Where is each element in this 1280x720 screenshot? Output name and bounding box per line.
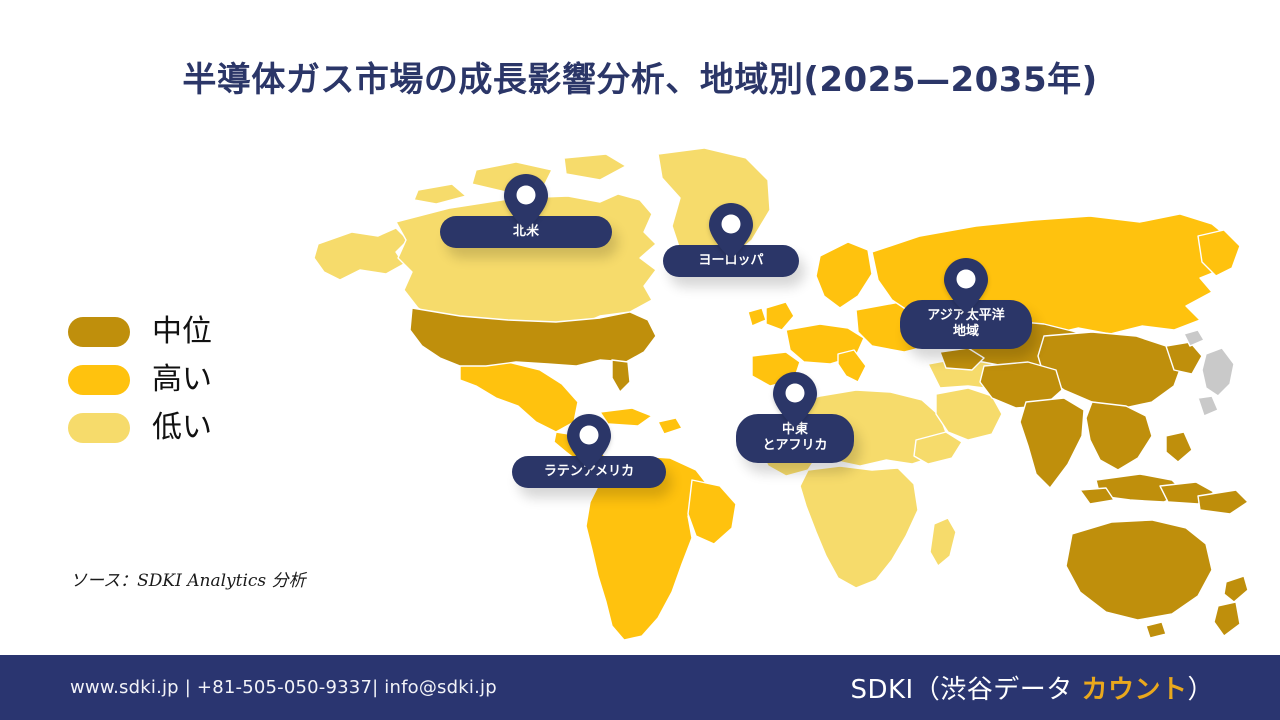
map-pin-icon	[567, 414, 611, 470]
map-marker-europe[interactable]: ヨーロッパ	[663, 203, 799, 277]
legend-item-low: 低い	[68, 404, 212, 452]
slide-root: 半導体ガス市場の成長影響分析、地域別(2025—2035年)	[0, 0, 1280, 720]
footer-brand-main: SDKI（渋谷データ	[850, 675, 1081, 705]
legend-item-high: 高い	[68, 356, 212, 404]
footer-brand-tail: ）	[1187, 675, 1214, 705]
legend-swatch-low	[68, 413, 130, 443]
legend-item-medium: 中位	[68, 308, 212, 356]
source-note: ソース：SDKI Analytics 分析	[70, 566, 306, 591]
legend-swatch-medium	[68, 317, 130, 347]
legend-label-medium: 中位	[152, 317, 212, 347]
footer-brand: SDKI（渋谷データ カウント）	[850, 669, 1214, 706]
legend: 中位 高い 低い	[68, 308, 212, 452]
legend-label-high: 高い	[152, 365, 212, 395]
map-marker-middle-east-africa[interactable]: 中東 とアフリカ	[736, 372, 854, 463]
map-marker-asia-pacific[interactable]: アジア太平洋 地域	[900, 258, 1032, 349]
footer-bar: www.sdki.jp | +81-505-050-9337| info@sdk…	[0, 655, 1280, 720]
map-pin-icon	[504, 174, 548, 230]
map-marker-latin-america[interactable]: ラテンアメリカ	[512, 414, 666, 488]
legend-label-low: 低い	[152, 413, 212, 443]
map-marker-north-america[interactable]: 北米	[440, 174, 612, 248]
page-title: 半導体ガス市場の成長影響分析、地域別(2025—2035年)	[0, 52, 1280, 101]
map-pin-icon	[773, 372, 817, 428]
footer-contact[interactable]: www.sdki.jp | +81-505-050-9337| info@sdk…	[70, 677, 497, 698]
footer-brand-accent: カウント	[1081, 675, 1187, 705]
map-pin-icon	[944, 258, 988, 314]
map-pin-icon	[709, 203, 753, 259]
legend-swatch-high	[68, 365, 130, 395]
